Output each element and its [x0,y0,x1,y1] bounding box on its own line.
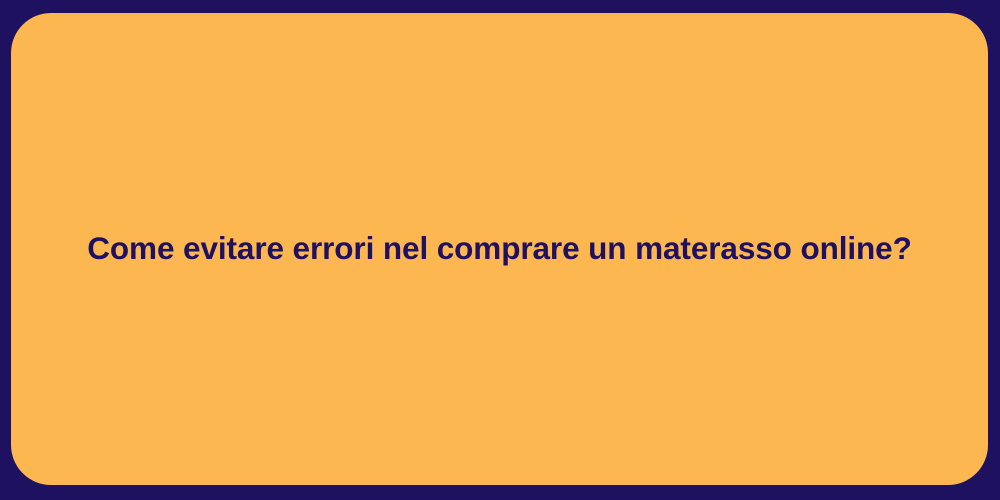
question-card: Come evitare errori nel comprare un mate… [11,13,988,485]
card-title: Come evitare errori nel comprare un mate… [87,229,911,268]
page-background: Come evitare errori nel comprare un mate… [0,0,1000,500]
